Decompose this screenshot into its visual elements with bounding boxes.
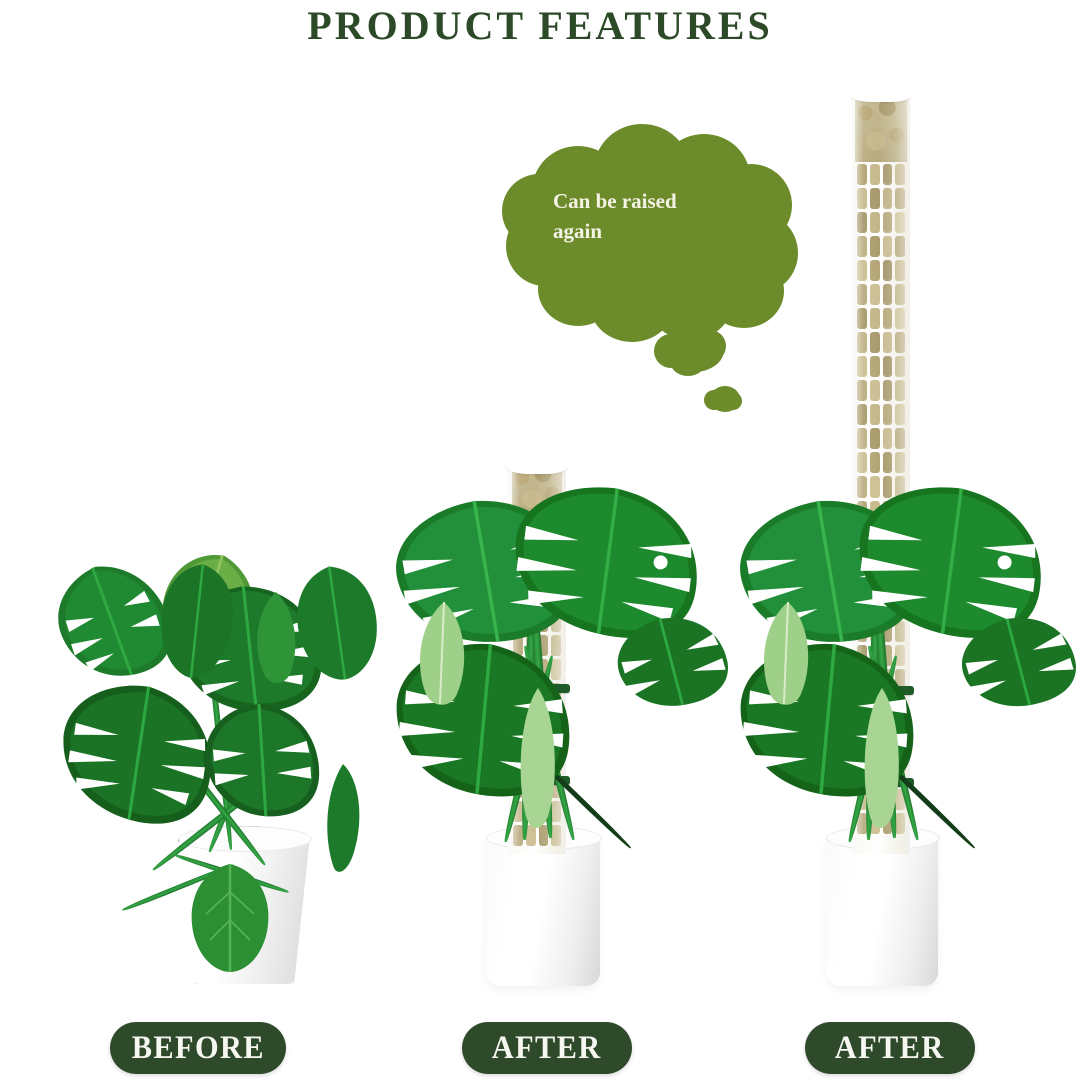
plant-pot-after-short xyxy=(486,836,600,986)
heart-leaf-front xyxy=(184,862,276,974)
caption-pill-after-short[interactable]: AFTER xyxy=(462,1022,632,1074)
thought-bubble-line-1: Can be raised xyxy=(553,186,758,216)
monstera-leaf-right xyxy=(616,614,731,714)
thought-bubble-line-2: again xyxy=(553,216,758,246)
narrow-leaf-pale xyxy=(752,600,822,710)
caption-label-after-short: AFTER xyxy=(492,1030,602,1067)
caption-pill-after-tall[interactable]: AFTER xyxy=(805,1022,975,1074)
narrow-leaf-pale xyxy=(408,600,478,710)
moss-pole-cap-tall xyxy=(850,88,912,102)
plant-pot-after-tall xyxy=(826,836,938,986)
thought-bubble-text: Can be raised again xyxy=(553,186,758,247)
heart-leaf xyxy=(152,560,242,680)
narrow-leaf-pale xyxy=(512,686,564,836)
moss-fill-top-tall xyxy=(855,92,907,162)
small-leaf xyxy=(320,760,366,880)
panel-after-short xyxy=(380,0,720,1000)
caption-label-before: BEFORE xyxy=(131,1030,264,1067)
narrow-leaf-pale xyxy=(856,686,908,836)
narrow-leaf xyxy=(246,590,306,686)
panel-after-tall xyxy=(720,0,1080,1000)
moss-pole-rim-short xyxy=(506,458,568,474)
product-feature-image: PRODUCT FEATURES Can be raised again xyxy=(0,0,1080,1080)
monstera-leaf xyxy=(198,700,328,825)
caption-pill-before[interactable]: BEFORE xyxy=(110,1022,286,1074)
monstera-leaf-right xyxy=(960,614,1080,714)
caption-label-after-tall: AFTER xyxy=(835,1030,945,1067)
panel-before xyxy=(0,0,360,1000)
